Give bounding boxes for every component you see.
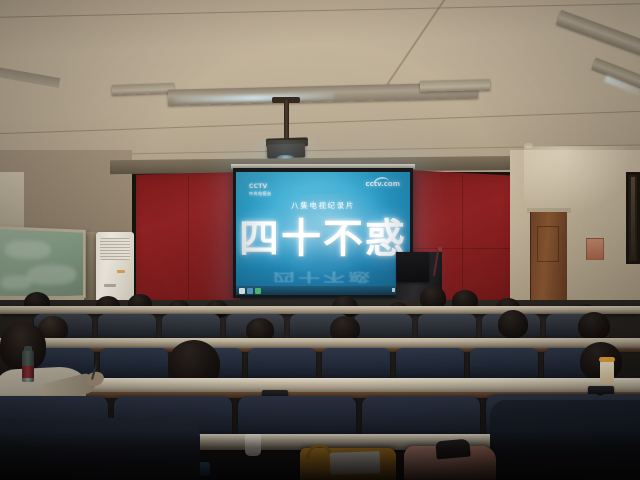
seat[interactable] xyxy=(354,314,412,338)
light-trough-right xyxy=(420,79,490,92)
lecture-hall-photo: CCTV 中央电视台 cctv.com 八集电视纪录片 四十不惑 四十不惑 xyxy=(0,0,640,480)
board-smudge xyxy=(27,265,76,285)
pink-bag-flap xyxy=(435,439,470,460)
desk-row-2 xyxy=(0,338,640,348)
projector-pole xyxy=(284,100,289,142)
board-smudge xyxy=(1,275,32,290)
media-tile-icon[interactable] xyxy=(255,288,261,294)
ac-grill-icon xyxy=(100,238,130,260)
seat[interactable] xyxy=(248,348,316,378)
seat[interactable] xyxy=(98,314,156,338)
ac-display xyxy=(117,270,125,273)
audience-head xyxy=(578,312,610,340)
microphone-icon xyxy=(438,247,442,251)
foreground-seat-left[interactable] xyxy=(0,418,200,480)
framed-picture xyxy=(626,172,640,264)
panel-seam xyxy=(462,174,463,308)
windows-taskbar[interactable] xyxy=(236,286,410,295)
ac-badge xyxy=(104,284,116,287)
network-icon[interactable] xyxy=(392,288,395,292)
audience-head xyxy=(498,310,528,338)
water-bottle-cap xyxy=(24,346,32,351)
door-panel xyxy=(537,226,559,262)
seat[interactable] xyxy=(470,348,538,378)
seat[interactable] xyxy=(162,314,220,338)
paper-cup[interactable] xyxy=(245,434,261,456)
panel-seam xyxy=(408,248,514,249)
screen-vignette xyxy=(236,172,410,295)
explorer-tile-icon[interactable] xyxy=(247,288,253,294)
taskbar-tiles[interactable] xyxy=(239,288,261,294)
start-tile-icon[interactable] xyxy=(239,288,245,294)
orange-bag-papers xyxy=(330,451,381,475)
wall-plaque xyxy=(586,238,604,260)
wall-light-glow xyxy=(524,146,634,216)
drink-cup[interactable] xyxy=(600,360,614,384)
seat[interactable] xyxy=(396,348,464,378)
drink-cup-lid xyxy=(599,357,615,362)
seat[interactable] xyxy=(362,396,480,436)
seat[interactable] xyxy=(418,314,476,338)
lectern-monitor[interactable] xyxy=(397,252,429,282)
whiteboard xyxy=(0,226,86,302)
framed-picture-inner xyxy=(631,177,635,259)
seat[interactable] xyxy=(100,348,168,378)
projection-screen[interactable]: CCTV 中央电视台 cctv.com 八集电视纪录片 四十不惑 四十不惑 xyxy=(233,168,413,298)
desk-row-1 xyxy=(0,306,640,314)
board-smudge xyxy=(5,240,51,259)
foreground-seat-right[interactable] xyxy=(490,400,640,460)
seat[interactable] xyxy=(238,396,356,436)
seat[interactable] xyxy=(322,348,390,378)
water-bottle-label xyxy=(22,366,34,378)
projection-screen-surface: CCTV 中央电视台 cctv.com 八集电视纪录片 四十不惑 四十不惑 xyxy=(236,172,410,295)
panel-seam xyxy=(188,176,189,306)
